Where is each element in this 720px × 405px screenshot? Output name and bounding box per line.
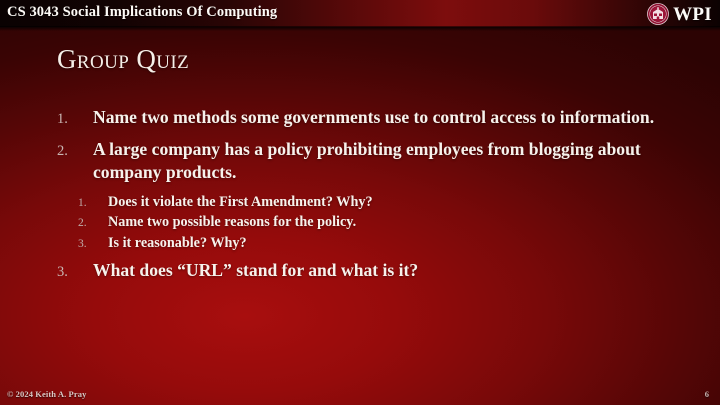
quiz-item-number: 1. <box>57 106 93 129</box>
slide-canvas: CS 3043 Social Implications Of Computing… <box>0 0 720 405</box>
wpi-wordmark: WPI <box>673 5 712 24</box>
copyright-notice: © 2024 Keith A. Pray <box>7 389 86 399</box>
slide-title: Group Quiz <box>57 44 189 75</box>
quiz-item-text: What does “URL” stand for and what is it… <box>93 259 682 282</box>
quiz-subitem-text: Is it reasonable? Why? <box>108 234 682 253</box>
quiz-list: 1. Name two methods some governments use… <box>57 106 682 291</box>
quiz-item: 2. A large company has a policy prohibit… <box>57 138 682 184</box>
quiz-item-text: A large company has a policy prohibiting… <box>93 138 682 184</box>
quiz-subitem: 1. Does it violate the First Amendment? … <box>57 193 682 212</box>
slide-header-bar: CS 3043 Social Implications Of Computing… <box>0 0 720 27</box>
quiz-subitem: 2. Name two possible reasons for the pol… <box>57 213 682 232</box>
quiz-subitem-number: 2. <box>78 213 108 231</box>
page-number: 6 <box>705 389 709 399</box>
quiz-item-number: 3. <box>57 259 93 282</box>
quiz-subitem-number: 3. <box>78 234 108 252</box>
quiz-subitem-text: Does it violate the First Amendment? Why… <box>108 193 682 212</box>
wpi-seal-icon <box>647 3 669 25</box>
quiz-subitem-list: 1. Does it violate the First Amendment? … <box>57 193 682 253</box>
quiz-item-text: Name two methods some governments use to… <box>93 106 682 129</box>
quiz-item-number: 2. <box>57 138 93 161</box>
quiz-item: 1. Name two methods some governments use… <box>57 106 682 129</box>
quiz-subitem-text: Name two possible reasons for the policy… <box>108 213 682 232</box>
course-title: CS 3043 Social Implications Of Computing <box>7 4 277 21</box>
quiz-subitem-number: 1. <box>78 193 108 211</box>
quiz-item: 3. What does “URL” stand for and what is… <box>57 259 682 282</box>
wpi-logo: WPI <box>647 2 712 26</box>
quiz-subitem: 3. Is it reasonable? Why? <box>57 234 682 253</box>
